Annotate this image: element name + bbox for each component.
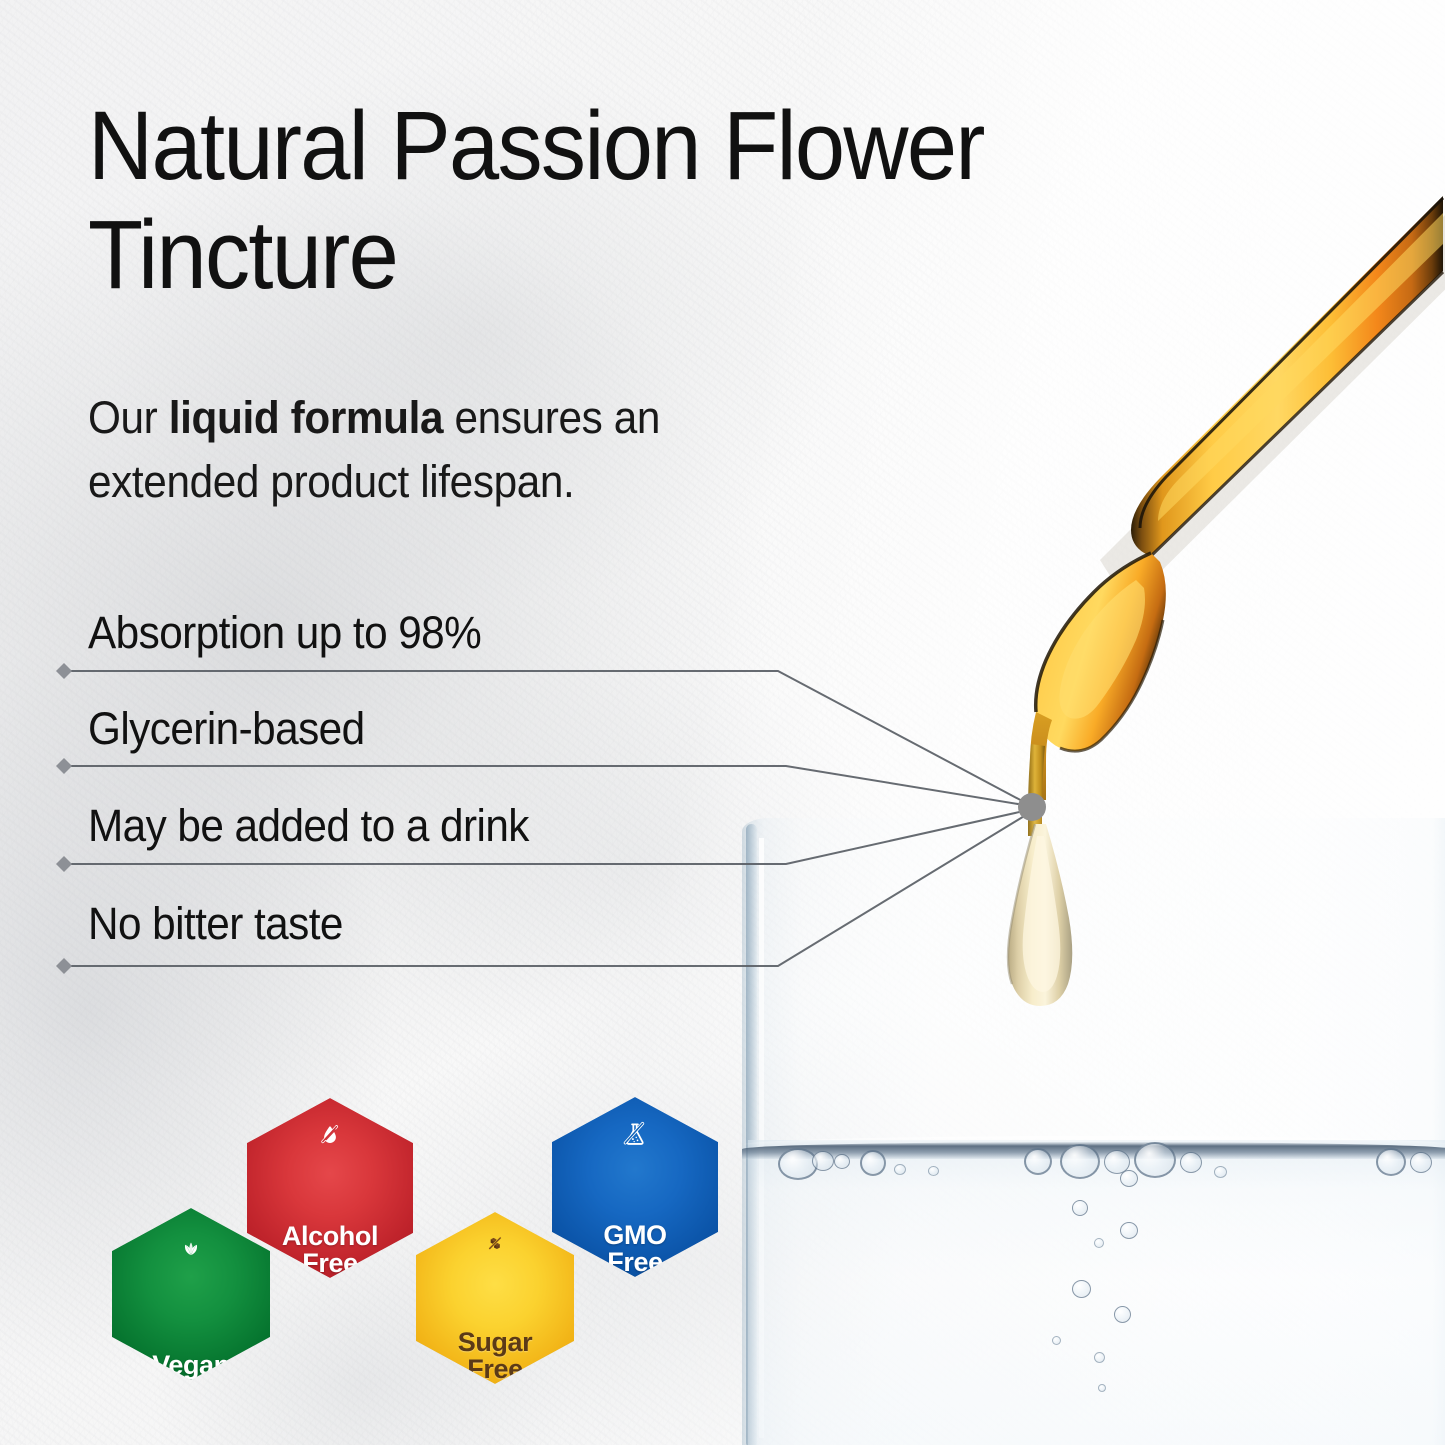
bubble xyxy=(860,1150,886,1176)
feature-label-4: No bitter taste xyxy=(88,901,343,946)
bubble xyxy=(1052,1336,1061,1345)
glass-of-water xyxy=(742,818,1445,1445)
subtitle: Our liquid formula ensures an extended p… xyxy=(88,386,840,514)
no-sugar-cubes-icon xyxy=(465,1236,525,1251)
bubble xyxy=(1376,1148,1406,1176)
bubble xyxy=(834,1154,850,1169)
water-surface-gloss xyxy=(742,1136,1445,1145)
bubble xyxy=(928,1166,939,1176)
bubble xyxy=(1410,1152,1432,1173)
bubble xyxy=(1120,1170,1138,1187)
bubble xyxy=(1094,1238,1104,1248)
bubble xyxy=(1072,1280,1091,1298)
subtitle-highlight: liquid formula xyxy=(169,392,443,443)
feature-label-2: Glycerin-based xyxy=(88,706,365,751)
bubble xyxy=(1024,1148,1052,1175)
no-droplet-icon xyxy=(301,1124,359,1145)
bubble xyxy=(1214,1166,1227,1178)
water-volume xyxy=(748,1140,1445,1445)
bubble xyxy=(812,1151,834,1171)
bubble xyxy=(1094,1352,1105,1363)
leaves-icon xyxy=(160,1242,222,1256)
bubble xyxy=(1060,1144,1100,1179)
bubble xyxy=(1180,1152,1202,1173)
bubble xyxy=(1134,1142,1176,1178)
bubble xyxy=(1072,1200,1088,1216)
subtitle-prefix: Our xyxy=(88,392,169,443)
feature-label-3: May be added to a drink xyxy=(88,803,529,848)
bubble xyxy=(1114,1306,1131,1323)
leader-convergence-dot xyxy=(1018,793,1046,821)
bubble xyxy=(1120,1222,1138,1239)
bubble xyxy=(1098,1384,1106,1392)
no-flask-icon xyxy=(604,1121,666,1148)
page-title: Natural Passion Flower Tincture xyxy=(88,92,1232,309)
feature-label-1: Absorption up to 98% xyxy=(88,610,481,655)
bubble xyxy=(894,1164,906,1175)
infographic-canvas: Natural Passion Flower Tincture Our liqu… xyxy=(0,0,1445,1445)
